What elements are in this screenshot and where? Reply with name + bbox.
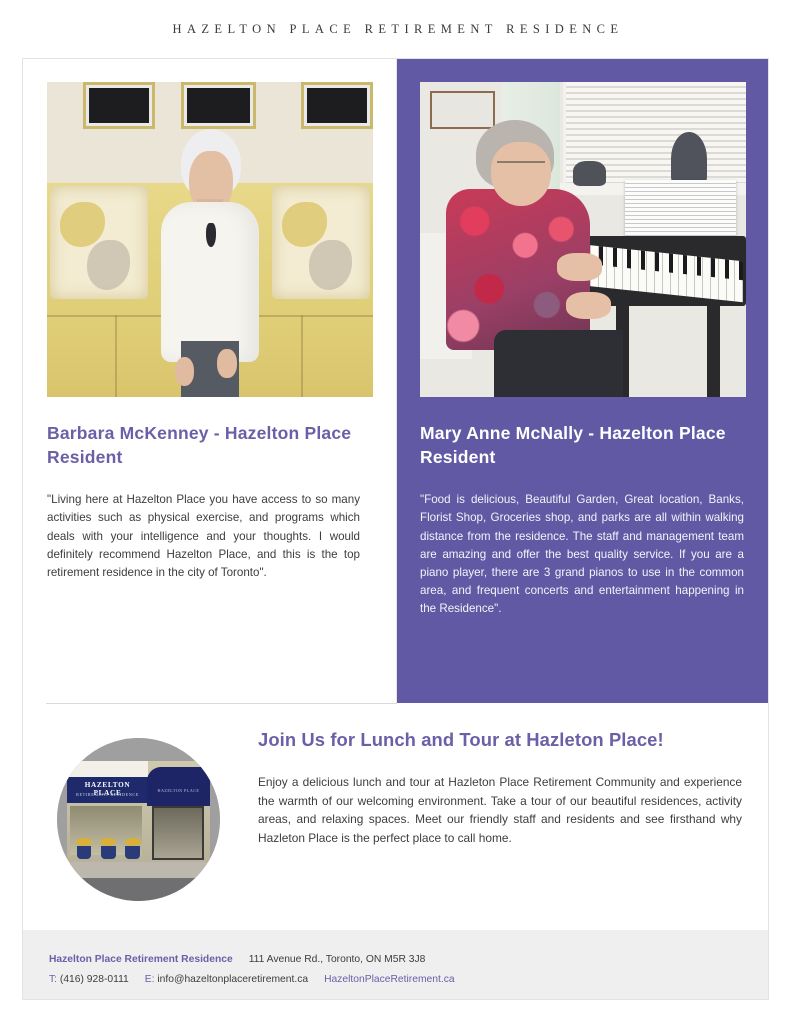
section-divider (46, 703, 397, 704)
newsletter-card: Barbara McKenney - Hazelton Place Reside… (22, 58, 769, 1000)
testimonial-card-maryanne: Mary Anne McNally - Hazelton Place Resid… (397, 59, 769, 703)
masthead: HAZELTON PLACE RETIREMENT RESIDENCE (0, 0, 791, 58)
footer-line-2: T: (416) 928-0111E: info@hazeltonplacere… (49, 970, 768, 990)
testimonials-section: Barbara McKenney - Hazelton Place Reside… (23, 59, 768, 703)
wall-art-icon (301, 82, 373, 129)
resident-photo-barbara (47, 82, 373, 397)
logo-awning-text: HAZELTON PLACE (150, 788, 206, 793)
cta-body: Enjoy a delicious lunch and tour at Hazl… (258, 773, 742, 847)
wall-art-icon (181, 82, 256, 129)
footer-email[interactable]: info@hazeltonplaceretirement.ca (157, 974, 308, 985)
entrance-door-icon (152, 806, 204, 860)
footer-website-link[interactable]: HazeltonPlaceRetirement.ca (324, 974, 455, 985)
footer: Hazelton Place Retirement Residence111 A… (23, 930, 768, 1000)
cta-heading: Join Us for Lunch and Tour at Hazleton P… (258, 729, 742, 751)
cta-section: HAZELTON PLACE RETIREMENT RESIDENCE HAZE… (23, 703, 768, 931)
cta-logo-wrapper: HAZELTON PLACE RETIREMENT RESIDENCE HAZE… (47, 729, 258, 931)
resident-photo-maryanne (420, 82, 746, 397)
resident-quote-barbara: "Living here at Hazelton Place you have … (47, 491, 360, 582)
footer-address: 111 Avenue Rd., Toronto, ON M5R 3J8 (249, 954, 426, 965)
resident-name-barbara: Barbara McKenney - Hazelton Place Reside… (47, 421, 372, 469)
resident-quote-maryanne: "Food is delicious, Beautiful Garden, Gr… (420, 491, 744, 618)
bird-figurine-icon (671, 132, 707, 186)
page-title: HAZELTON PLACE RETIREMENT RESIDENCE (168, 22, 624, 37)
building-logo-image: HAZELTON PLACE RETIREMENT RESIDENCE HAZE… (57, 738, 220, 901)
footer-company: Hazelton Place Retirement Residence (49, 954, 233, 965)
testimonial-card-barbara: Barbara McKenney - Hazelton Place Reside… (23, 59, 397, 703)
footer-phone-label: T: (49, 974, 57, 985)
footer-line-1: Hazelton Place Retirement Residence111 A… (49, 950, 768, 970)
wall-art-icon (83, 82, 155, 129)
resident-name-maryanne: Mary Anne McNally - Hazelton Place Resid… (420, 421, 746, 469)
footer-email-label: E: (145, 974, 155, 985)
cta-text-block: Join Us for Lunch and Tour at Hazleton P… (258, 729, 748, 931)
footer-phone[interactable]: (416) 928-0111 (60, 974, 129, 985)
logo-sign-line2: RETIREMENT RESIDENCE (70, 792, 145, 797)
